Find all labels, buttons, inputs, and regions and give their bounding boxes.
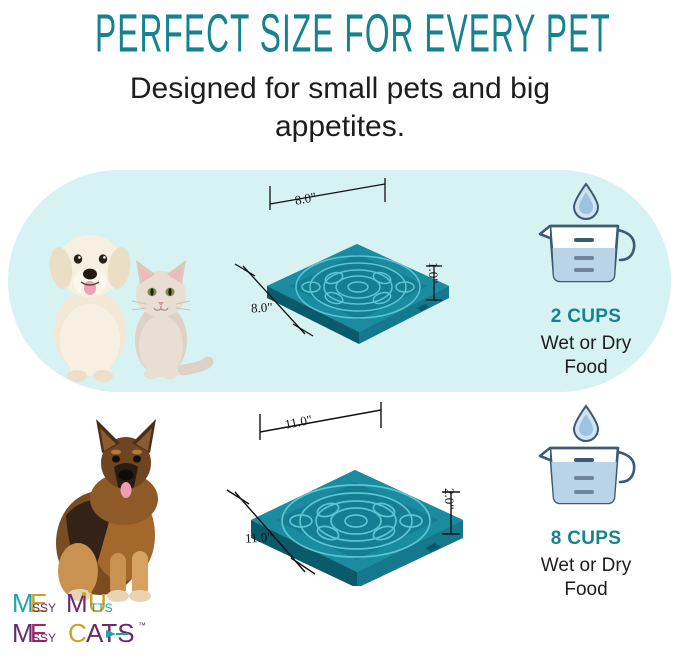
water-droplet-icon: [574, 184, 598, 219]
capacity-amount-small: 2 CUPS: [500, 306, 672, 328]
large-bowl-row: 11.0" 11.0" 2.0": [0, 392, 679, 614]
small-bowl-depth-dimension-line: [233, 262, 343, 344]
capacity-description-large-line2: Food: [500, 578, 672, 602]
page-subtitle: Designed for small pets and big appetite…: [72, 70, 608, 146]
capacity-block-small: 2 CUPS Wet or Dry Food: [500, 178, 672, 380]
large-bowl-capacity-cell: 8 CUPS Wet or Dry Food: [500, 392, 672, 614]
capacity-block-large: 8 CUPS Wet or Dry Food: [500, 400, 672, 602]
large-bowl-depth-label: 11.0": [245, 529, 273, 546]
logo-line1-tts: TTS: [90, 601, 113, 615]
capacity-description-large-line1: Wet or Dry: [500, 554, 672, 578]
golden-retriever-puppy-and-kitten-image: [28, 204, 218, 384]
measuring-cup-icon: [530, 178, 642, 298]
small-bowl-capacity-cell: 2 CUPS Wet or Dry Food: [500, 170, 672, 392]
logo-line2-c: C: [68, 618, 87, 648]
small-bowl-cell: 8.0" 8.0" 1.0": [225, 170, 495, 392]
water-droplet-icon: [574, 406, 598, 441]
messy-mutts-messy-cats-logo-icon: M E SSY M U TTS M E SSY C ATS ™: [10, 588, 170, 650]
german-shepherd-image: [28, 411, 218, 606]
capacity-description-small-line2: Food: [500, 356, 672, 380]
capacity-description-small-line1: Wet or Dry: [500, 332, 672, 356]
large-bowl-width-dimension-line: [255, 402, 395, 442]
page-title: PERFECT SIZE FOR EVERY PET: [95, 4, 584, 65]
infographic-page: PERFECT SIZE FOR EVERY PET Designed for …: [0, 0, 679, 658]
large-bowl-cell: 11.0" 11.0" 2.0": [225, 392, 495, 614]
large-bowl-height-label: 2.0": [441, 488, 457, 510]
small-bowl-depth-label: 8.0": [251, 299, 273, 316]
large-bowl-depth-dimension-line: [225, 488, 345, 584]
pets-group-large: [28, 392, 218, 614]
golden-retriever-puppy-icon: [47, 235, 133, 382]
small-bowl-row: 8.0" 8.0" 1.0": [0, 170, 679, 392]
logo-line1-ssy: SSY: [32, 601, 56, 615]
cup-water-fill: [553, 248, 616, 281]
cream-kitten-icon: [132, 260, 208, 379]
german-shepherd-icon: [56, 419, 158, 602]
capacity-amount-large: 8 CUPS: [500, 528, 672, 550]
small-bowl-height-label: 1.0": [425, 262, 441, 284]
measuring-cup-icon: [530, 400, 642, 520]
cup-water-fill: [551, 462, 616, 503]
logo-trademark: ™: [138, 621, 146, 630]
logo-line2-ssy: SSY: [32, 631, 56, 645]
brand-logo: M E SSY M U TTS M E SSY C ATS ™: [10, 588, 170, 650]
small-bowl-width-dimension-line: [265, 178, 405, 214]
pets-group-small: [28, 170, 218, 392]
